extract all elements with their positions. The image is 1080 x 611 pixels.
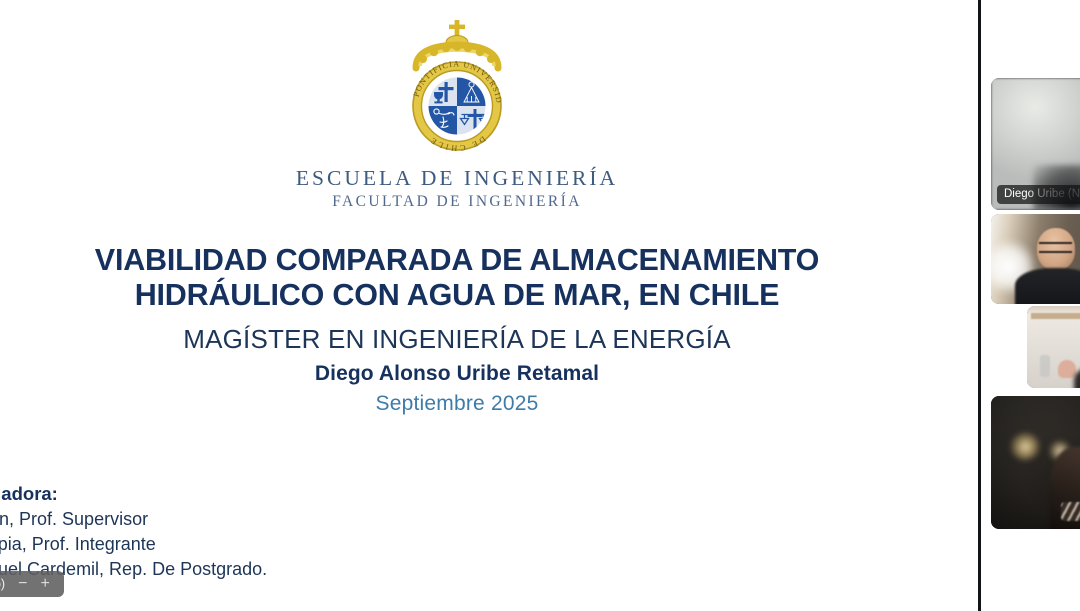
- glasses-icon: [1039, 242, 1072, 253]
- committee-heading: evaluadora:: [0, 482, 267, 507]
- shared-slide-pane[interactable]: PONTIFICIA UNIVERSIDAD CATOLICA DE CHILE: [0, 0, 978, 611]
- room-shelf: [1031, 313, 1080, 319]
- room-object: [1040, 355, 1050, 376]
- slide-program: MAGÍSTER EN INGENIERÍA DE LA ENERGÍA: [0, 324, 978, 355]
- room-lamp: [1050, 441, 1070, 461]
- slide-title-block: VIABILIDAD COMPARADA DE ALMACENAMIENTO H…: [0, 243, 978, 416]
- participant-filmstrip[interactable]: Diego Uribe (N: [981, 0, 1080, 611]
- participant-tile[interactable]: Diego Uribe (N: [991, 78, 1080, 210]
- meeting-screen-share-view: PONTIFICIA UNIVERSIDAD CATOLICA DE CHILE: [0, 0, 1080, 611]
- committee-member-row: Marian, Prof. Supervisor: [0, 507, 267, 532]
- zoom-out-button[interactable]: −: [18, 576, 27, 592]
- slide-date: Septiembre 2025: [0, 392, 978, 416]
- zoom-in-button[interactable]: +: [40, 576, 49, 592]
- participant-video-feed: [1027, 306, 1080, 388]
- participant-silhouette: [1050, 447, 1080, 529]
- room-lamp: [1011, 433, 1040, 460]
- institution-header: PONTIFICIA UNIVERSIDAD CATOLICA DE CHILE: [0, 18, 978, 211]
- participant-video-feed: [991, 214, 1080, 304]
- participant-video-feed: [991, 396, 1080, 529]
- participant-tile[interactable]: [991, 214, 1080, 304]
- facultad-label: FACULTAD DE INGENIERÍA: [332, 193, 582, 211]
- participant-torso: [1015, 268, 1080, 304]
- share-status-label: robado): [0, 577, 5, 591]
- slide-title-line-1: VIABILIDAD COMPARADA DE ALMACENAMIENTO: [0, 243, 978, 278]
- room-object: [1058, 360, 1076, 378]
- escuela-label: ESCUELA DE INGENIERÍA: [296, 166, 618, 191]
- participant-garment: [1061, 502, 1080, 521]
- committee-block: evaluadora: Marian, Prof. Supervisor rla…: [0, 482, 267, 581]
- committee-member-row: rla Tapia, Prof. Integrante: [0, 532, 267, 557]
- participant-tile[interactable]: [1027, 306, 1080, 388]
- share-zoom-control[interactable]: robado) − +: [0, 571, 64, 597]
- slide-title-line-2: HIDRÁULICO CON AGUA DE MAR, EN CHILE: [0, 278, 978, 313]
- participant-tile[interactable]: [991, 396, 1080, 529]
- slide-author: Diego Alonso Uribe Retamal: [0, 362, 978, 386]
- participant-name-label: Diego Uribe (N: [997, 185, 1080, 204]
- slide-canvas: PONTIFICIA UNIVERSIDAD CATOLICA DE CHILE: [0, 0, 978, 611]
- uc-chile-crest-icon: PONTIFICIA UNIVERSIDAD CATOLICA DE CHILE: [396, 18, 518, 160]
